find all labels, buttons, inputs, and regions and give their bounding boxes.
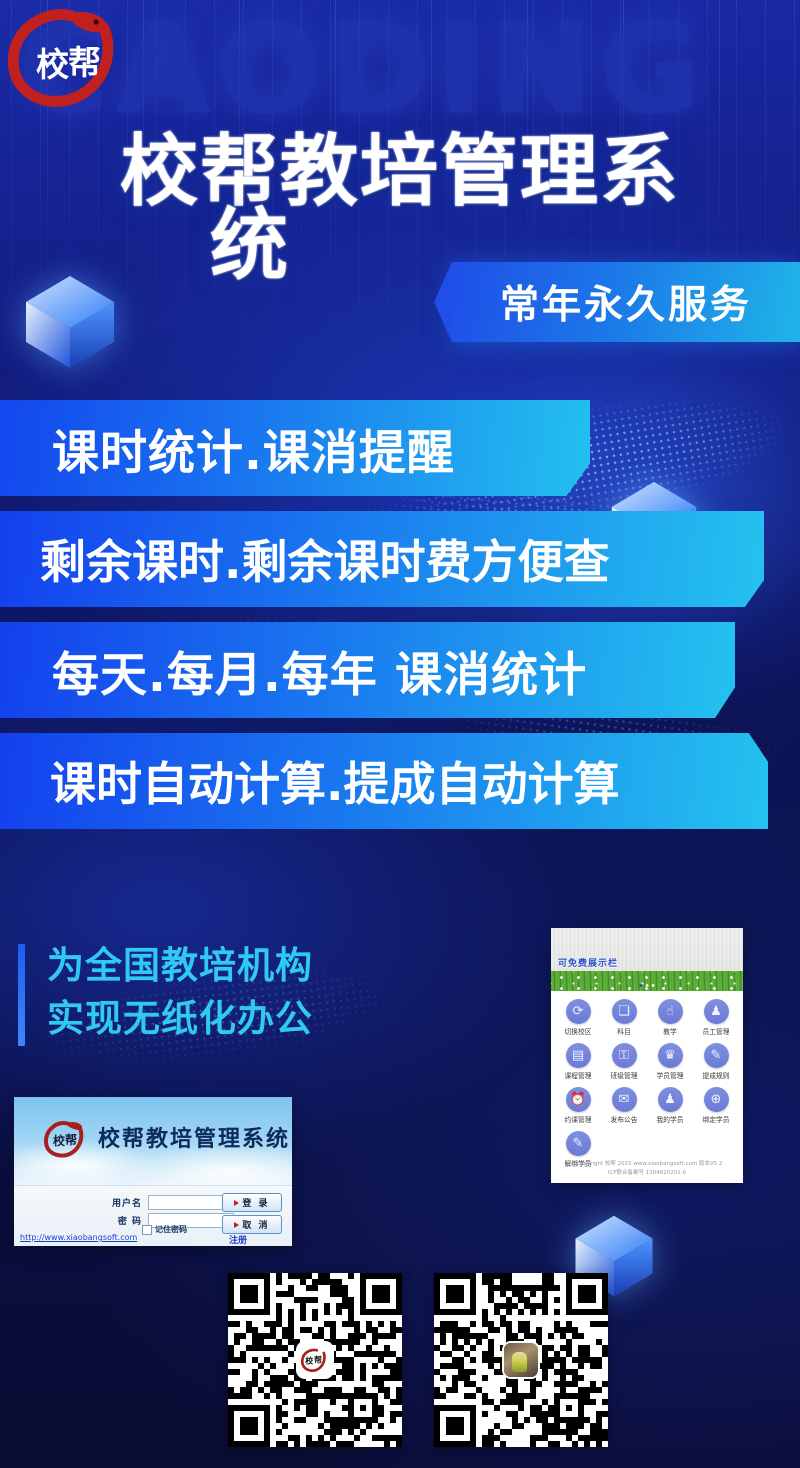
personal-contact-qr[interactable]: [434, 1273, 608, 1447]
arrow-right-icon: [234, 1222, 239, 1228]
tagline-lines: 为全国教培机构 实现无纸化办公: [47, 940, 313, 1045]
tagline-block: 为全国教培机构 实现无纸化办公: [18, 940, 313, 1046]
cancel-button-label: 取 消: [242, 1218, 269, 1231]
refresh-icon[interactable]: ⟳: [566, 999, 591, 1024]
app-grid-item-label: 切换校区: [565, 1027, 592, 1037]
tagline-accent-bar: [18, 944, 25, 1046]
app-promo-text: 可免费展示栏: [558, 956, 618, 969]
app-grid-item[interactable]: ⏰约课管理: [555, 1087, 601, 1125]
app-grid-item[interactable]: ✎提成规则: [693, 1043, 739, 1081]
app-grid-item-label: 绑定学员: [703, 1115, 730, 1125]
app-grid-item-label: 学员管理: [657, 1071, 684, 1081]
login-brand-logo: 校 帮: [44, 1119, 88, 1161]
login-window-title: 校帮教培管理系统: [98, 1121, 290, 1153]
clock-icon[interactable]: ⏰: [566, 1087, 591, 1112]
app-grid-item-label: 教学: [663, 1027, 676, 1037]
svg-text:校: 校: [36, 45, 69, 84]
remember-password-checkbox[interactable]: 记住密码: [142, 1224, 187, 1235]
app-grid-item[interactable]: ☝教学: [647, 999, 693, 1037]
app-grid-item[interactable]: ⟳切换校区: [555, 999, 601, 1037]
person-badge-icon[interactable]: ♟: [704, 999, 729, 1024]
feature-bar-label: 每天.每月.每年 课消统计: [0, 636, 587, 705]
feature-bar: 课时自动计算.提成自动计算: [0, 733, 768, 829]
people-icon[interactable]: ♟: [658, 1087, 683, 1112]
app-hero-grass-image: [551, 971, 743, 991]
app-grid-item[interactable]: ♟我的学员: [647, 1087, 693, 1125]
feature-bar-label: 课时自动计算.提成自动计算: [0, 748, 619, 814]
hand-icon[interactable]: ☝: [658, 999, 683, 1024]
login-button-label: 登 录: [242, 1196, 269, 1209]
app-grid-item[interactable]: ⊕绑定学员: [693, 1087, 739, 1125]
app-grid-item[interactable]: ✉发布公告: [601, 1087, 647, 1125]
pencil-icon[interactable]: ✎: [704, 1043, 729, 1068]
page-title-line-1: 校帮教培管理系: [120, 127, 680, 217]
app-icon-grid: ⟳切换校区❑科目☝教学♟员工管理▤课程管理⚿班级管理♛学员管理✎提成规则⏰约课管…: [551, 991, 743, 1169]
app-grid-item[interactable]: ♛学员管理: [647, 1043, 693, 1081]
svg-text:帮: 帮: [68, 43, 101, 82]
app-copyright: ©copyright 校帮 2015 www.xiaobangsoft.com …: [551, 1160, 743, 1178]
note-icon[interactable]: ✎: [566, 1131, 591, 1156]
remember-password-label: 记住密码: [155, 1224, 187, 1235]
website-url-link[interactable]: http://www.xiaobangsoft.com: [20, 1233, 137, 1242]
app-grid-item-label: 发布公告: [611, 1115, 638, 1125]
feature-bar-label: 剩余课时.剩余课时费方便查: [0, 526, 609, 592]
students-icon[interactable]: ♛: [658, 1043, 683, 1068]
book-icon[interactable]: ▤: [566, 1043, 591, 1068]
app-grid-item-label: 我的学员: [657, 1115, 684, 1125]
feature-bar: 剩余课时.剩余课时费方便查: [0, 511, 764, 607]
app-grid-item-label: 约课管理: [565, 1115, 592, 1125]
app-grid-item[interactable]: ♟员工管理: [693, 999, 739, 1037]
lock-icon[interactable]: ⚿: [612, 1043, 637, 1068]
brand-logo: 校 帮: [8, 4, 126, 120]
feature-bar: 课时统计.课消提醒: [0, 400, 590, 496]
folder-icon[interactable]: ❑: [612, 999, 637, 1024]
svg-text:帮: 帮: [65, 1132, 77, 1147]
app-grid-item[interactable]: ▤课程管理: [555, 1043, 601, 1081]
svg-text:校: 校: [305, 1356, 313, 1366]
app-grid-item-label: 班级管理: [611, 1071, 638, 1081]
cancel-button[interactable]: 取 消: [222, 1215, 282, 1234]
decorative-cube-icon: [22, 272, 118, 372]
app-hero-banner: 可免费展示栏: [551, 928, 743, 991]
link-icon[interactable]: ⊕: [704, 1087, 729, 1112]
app-copyright-line-2: ICP联合备案号 1304620201-6: [551, 1169, 743, 1178]
carousel-indicator[interactable]: [640, 984, 655, 987]
service-badge: 常年永久服务: [452, 262, 800, 342]
app-grid-item-label: 科目: [617, 1027, 630, 1037]
feature-bar: 每天.每月.每年 课消统计: [0, 622, 735, 718]
app-grid-item-label: 课程管理: [565, 1071, 592, 1081]
login-button[interactable]: 登 录: [222, 1193, 282, 1212]
password-label: 密 码: [106, 1214, 142, 1227]
qr-center-logo: 校 帮: [298, 1343, 332, 1377]
app-grid-item-label: 提成规则: [703, 1071, 730, 1081]
login-username-row: 用户名: [106, 1195, 234, 1210]
register-link[interactable]: 注册: [229, 1233, 247, 1246]
arrow-right-icon: [234, 1200, 239, 1206]
mail-icon[interactable]: ✉: [612, 1087, 637, 1112]
tagline-line-2: 实现无纸化办公: [47, 993, 313, 1046]
desktop-login-screenshot: 校 帮 校帮教培管理系统 用户名 密 码 登 录 取 消 记住密码 http:/…: [14, 1097, 292, 1246]
app-grid-item[interactable]: ⚿班级管理: [601, 1043, 647, 1081]
checkbox-icon[interactable]: [142, 1225, 152, 1235]
svg-text:帮: 帮: [314, 1355, 322, 1365]
app-grid-item-label: 员工管理: [703, 1027, 730, 1037]
feature-bar-list: 课时统计.课消提醒 剩余课时.剩余课时费方便查 每天.每月.每年 课消统计 课时…: [0, 400, 800, 844]
official-account-qr[interactable]: 校 帮: [228, 1273, 402, 1447]
mobile-app-screenshot: 可免费展示栏 ⟳切换校区❑科目☝教学♟员工管理▤课程管理⚿班级管理♛学员管理✎提…: [551, 928, 743, 1183]
app-grid-item[interactable]: ❑科目: [601, 999, 647, 1037]
app-copyright-line-1: ©copyright 校帮 2015 www.xiaobangsoft.com …: [551, 1160, 743, 1169]
ghost-wordmark: CAODING: [18, 8, 800, 132]
username-label: 用户名: [106, 1196, 142, 1209]
tagline-line-1: 为全国教培机构: [47, 940, 313, 993]
qr-center-photo: [504, 1343, 538, 1377]
feature-bar-label: 课时统计.课消提醒: [0, 414, 455, 483]
